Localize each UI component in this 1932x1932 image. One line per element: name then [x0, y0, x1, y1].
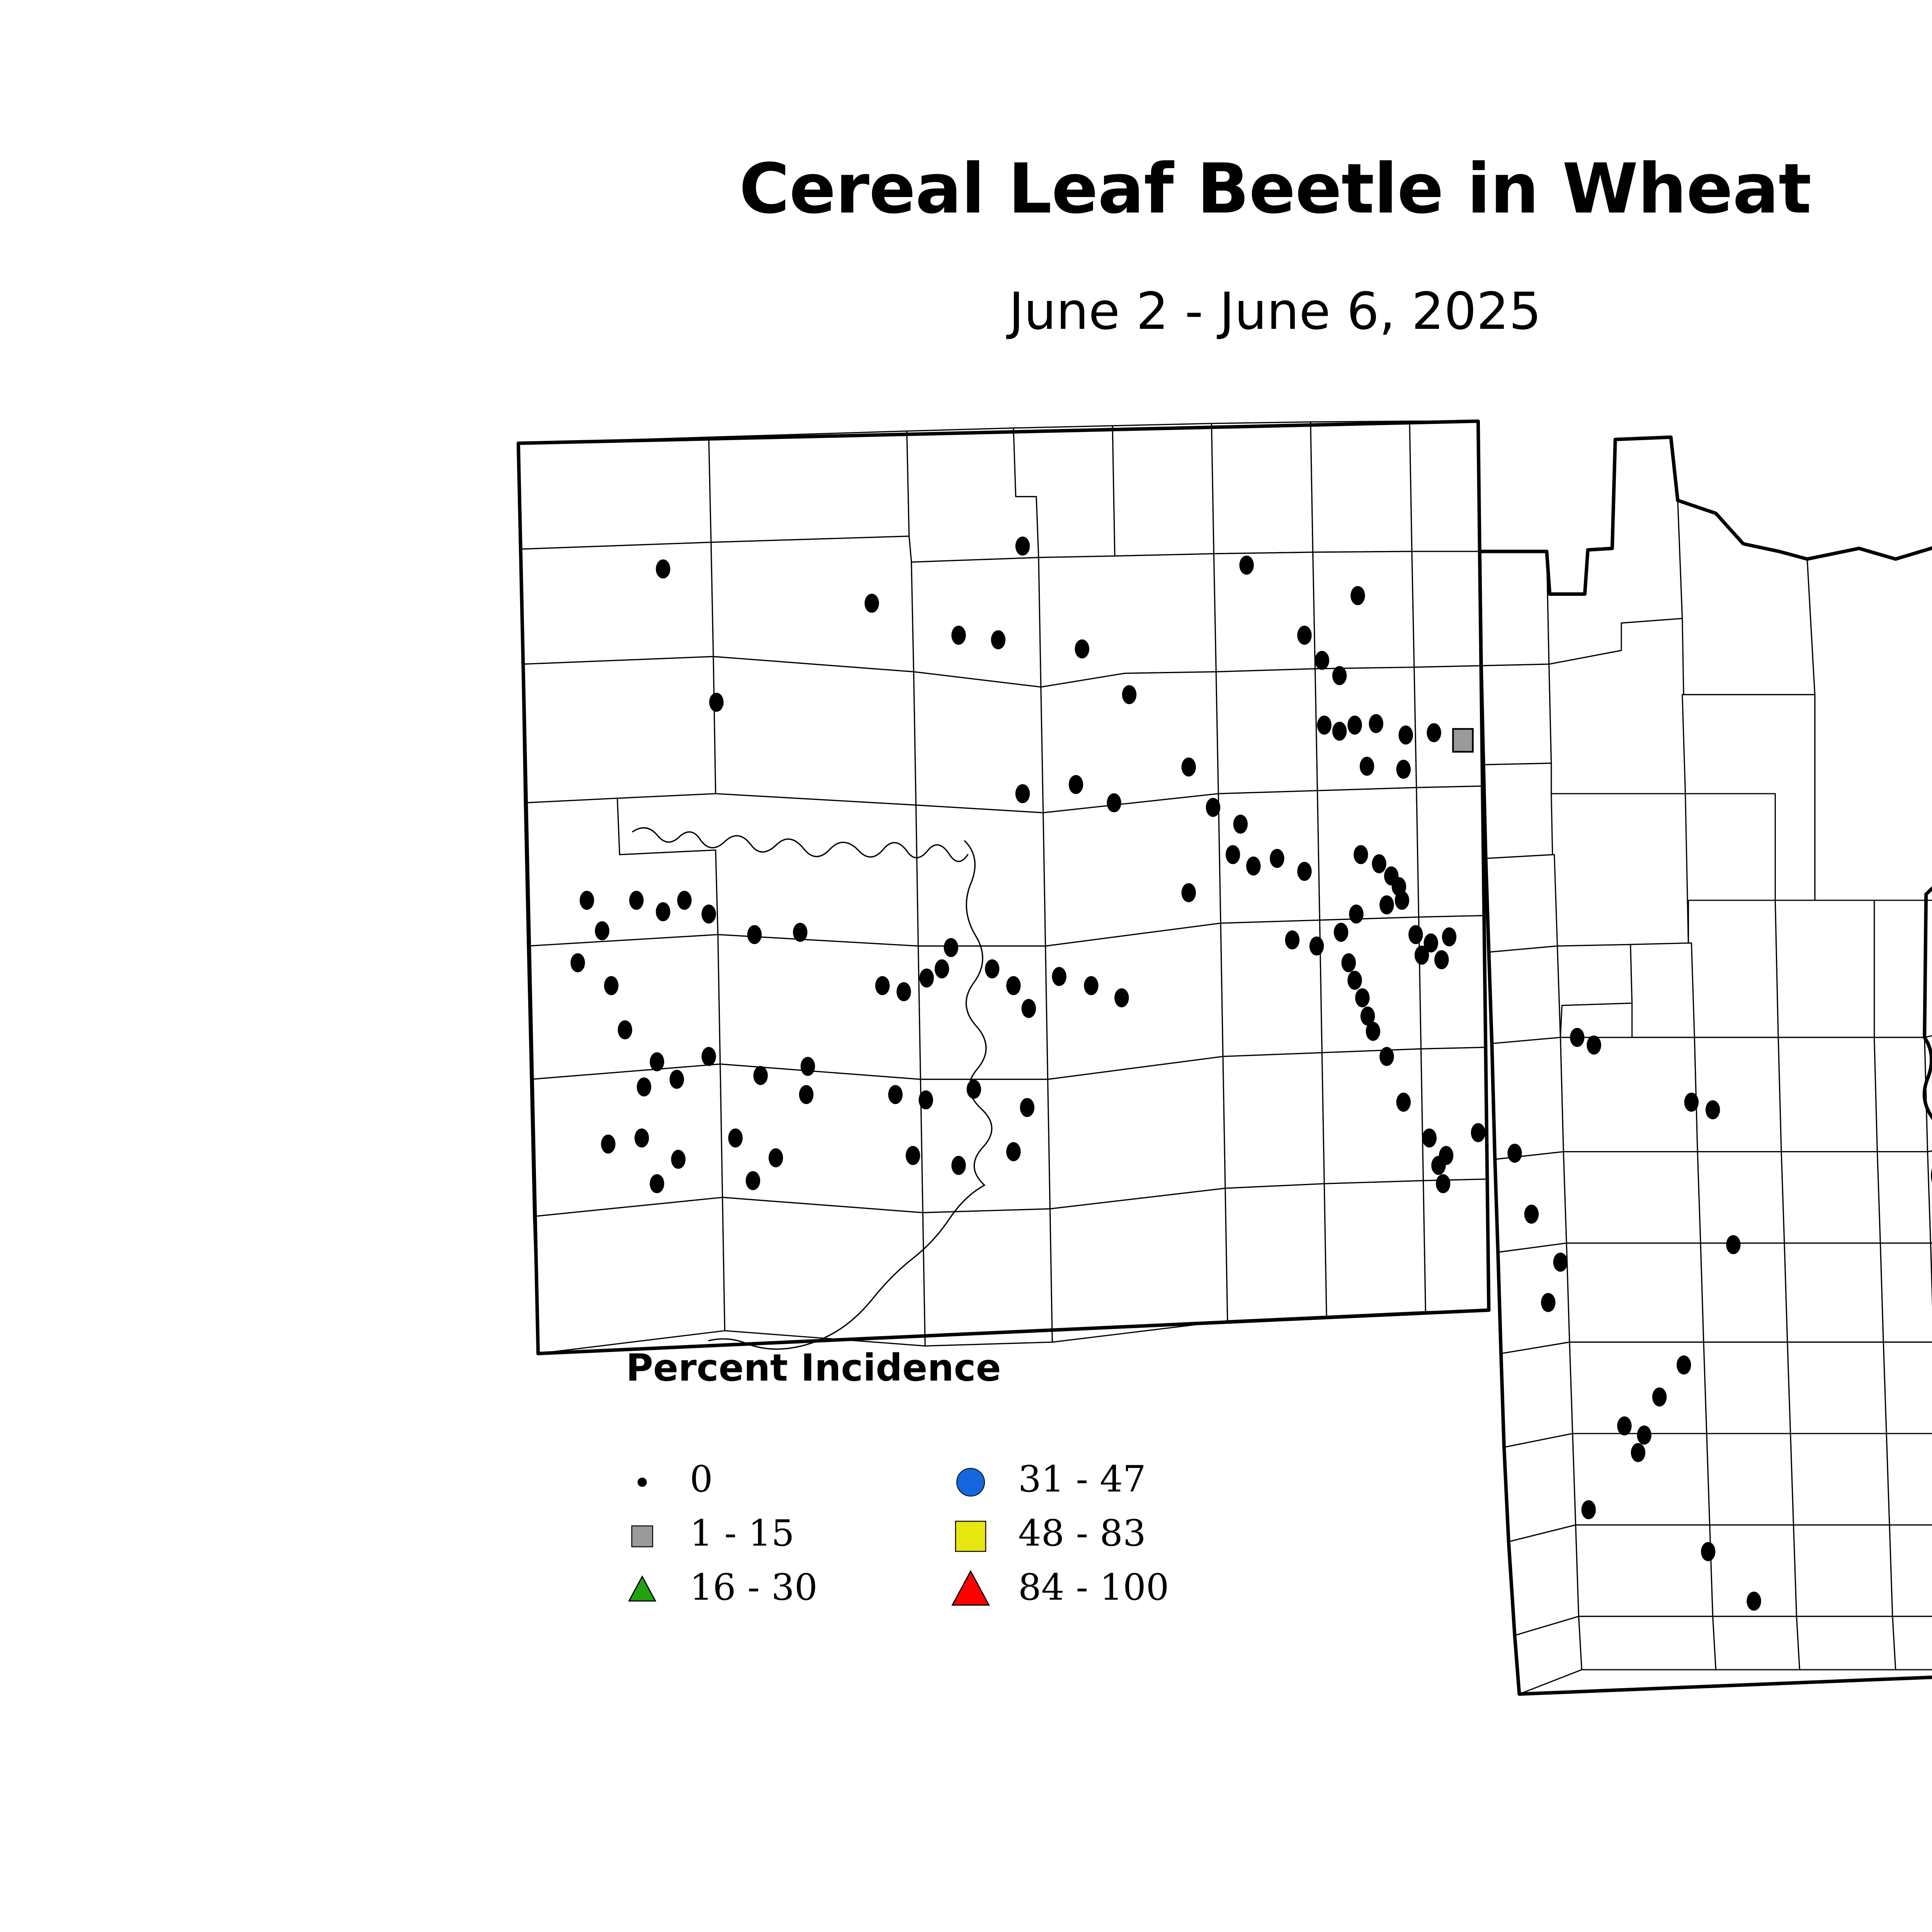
map-data-point[interactable] — [1122, 685, 1136, 704]
map-data-point[interactable] — [1075, 639, 1089, 658]
map-data-point[interactable] — [634, 1128, 649, 1147]
map-data-point[interactable] — [1015, 784, 1030, 803]
gray-square-marker — [614, 1511, 672, 1561]
map-data-point[interactable] — [1052, 967, 1066, 986]
map-data-point[interactable] — [875, 976, 889, 995]
map-data-point[interactable] — [906, 1146, 920, 1165]
map-data-point[interactable] — [1114, 988, 1129, 1007]
map-data-point[interactable] — [1747, 1592, 1761, 1611]
red-triangle-marker — [943, 1565, 1001, 1615]
map-data-point[interactable] — [753, 1066, 768, 1085]
map-data-point[interactable] — [629, 891, 643, 910]
map-data-point[interactable] — [888, 1085, 903, 1104]
map-data-point[interactable] — [967, 1080, 981, 1099]
map-data-point[interactable] — [1350, 586, 1365, 605]
map-data-point[interactable] — [671, 1150, 685, 1169]
map-data-point[interactable] — [747, 925, 762, 944]
map-data-point[interactable] — [1347, 971, 1362, 990]
legend-label: 16 - 30 — [690, 1569, 818, 1607]
map-data-point[interactable] — [580, 891, 594, 910]
map-data-point[interactable] — [1631, 1443, 1645, 1462]
map-data-point[interactable] — [1617, 1417, 1631, 1435]
map-data-point[interactable] — [595, 921, 609, 940]
legend: Percent Incidence 01 - 1516 - 30 31 - 47… — [614, 1341, 1155, 1646]
map-data-point[interactable] — [604, 976, 618, 995]
legend-label: 48 - 83 — [1018, 1515, 1146, 1553]
legend-label: 84 - 100 — [1018, 1569, 1169, 1607]
map-data-point[interactable] — [1379, 1047, 1394, 1066]
map-data-point[interactable] — [951, 1156, 966, 1175]
map-data-point[interactable] — [1434, 950, 1449, 969]
map-data-point[interactable] — [1439, 1146, 1453, 1165]
map-data-point[interactable] — [702, 905, 716, 923]
map-data-point[interactable] — [1285, 930, 1299, 949]
map-data-point[interactable] — [650, 1174, 664, 1193]
blue-circle-marker — [943, 1457, 1001, 1507]
map-data-point[interactable] — [1310, 937, 1324, 956]
map-data-point[interactable] — [1582, 1500, 1596, 1519]
map-data-point[interactable] — [1436, 1174, 1450, 1193]
map-data-point[interactable] — [1239, 556, 1253, 575]
map-data-point[interactable] — [1396, 1093, 1411, 1112]
map-data-point[interactable] — [919, 968, 934, 987]
map-data-point[interactable] — [1317, 716, 1331, 735]
map-data-point[interactable] — [896, 982, 911, 1001]
map-data-point[interactable] — [1022, 999, 1036, 1018]
map-data-point[interactable] — [637, 1077, 651, 1096]
map-data-point[interactable] — [1006, 1142, 1020, 1161]
map-data-point[interactable] — [1354, 845, 1368, 864]
map-data-point[interactable] — [985, 959, 999, 978]
small-circle-marker — [614, 1457, 672, 1507]
map-data-point[interactable] — [1415, 946, 1429, 964]
map-data-point[interactable] — [1706, 1100, 1720, 1119]
map-data-point[interactable] — [677, 891, 691, 910]
map-data-point[interactable] — [1347, 716, 1362, 735]
map-data-point[interactable] — [570, 953, 585, 972]
legend-label: 31 - 47 — [1018, 1461, 1146, 1499]
minnesota-counties — [1480, 437, 1932, 1694]
map-data-point[interactable] — [1182, 757, 1196, 776]
map-data-point[interactable] — [1570, 1028, 1584, 1047]
map-data-point[interactable] — [991, 630, 1005, 649]
map-data-point[interactable] — [951, 626, 966, 645]
map-data-point[interactable] — [1507, 1144, 1522, 1163]
map-data-point[interactable] — [1206, 798, 1220, 817]
map-data-point[interactable] — [1006, 976, 1020, 995]
map-data-point[interactable] — [1684, 1093, 1699, 1112]
map-data-point[interactable] — [1524, 1205, 1539, 1224]
page-title: Cereal Leaf Beetle in Wheat — [0, 155, 1932, 223]
map-data-point[interactable] — [1427, 723, 1441, 742]
map-data-point[interactable] — [1069, 775, 1083, 794]
legend-title: Percent Incidence — [626, 1349, 1001, 1386]
map-data-point[interactable] — [601, 1134, 615, 1153]
map-data-point[interactable] — [1408, 925, 1423, 944]
map-data-point[interactable] — [1315, 651, 1329, 670]
map-data-point[interactable] — [1334, 923, 1348, 942]
map-data-point[interactable] — [1471, 1123, 1485, 1142]
map-data-point[interactable] — [1553, 1253, 1568, 1272]
map-data-point[interactable] — [1084, 976, 1098, 995]
map-figure: Cereal Leaf Beetle in Wheat June 2 - Jun… — [0, 0, 1932, 1932]
map-data-point[interactable] — [918, 1090, 933, 1109]
map-data-point[interactable] — [1587, 1036, 1601, 1054]
map-data-point[interactable] — [1226, 845, 1240, 864]
map-data-point[interactable] — [1332, 722, 1347, 741]
green-triangle-marker — [614, 1565, 672, 1615]
map-data-point[interactable] — [1398, 726, 1413, 745]
map-data-point[interactable] — [1297, 626, 1311, 645]
map-data-point[interactable] — [769, 1148, 783, 1167]
map-data-point[interactable] — [1020, 1098, 1034, 1117]
map-data-point[interactable] — [1297, 862, 1311, 881]
map-data-point[interactable] — [1637, 1425, 1651, 1444]
map-data-point[interactable] — [944, 938, 958, 957]
map-data-point[interactable] — [1726, 1235, 1740, 1254]
map-data-point[interactable] — [1701, 1542, 1715, 1561]
map-data-point[interactable] — [1015, 537, 1030, 556]
map-data-point[interactable] — [1541, 1293, 1555, 1312]
map-data-point[interactable] — [1270, 849, 1284, 868]
map-data-point[interactable] — [1395, 891, 1409, 910]
map-data-point[interactable] — [864, 594, 879, 613]
map-data-point[interactable] — [709, 693, 723, 712]
map-data-point[interactable] — [935, 959, 949, 978]
map-data-point[interactable] — [1342, 953, 1356, 972]
map-data-point[interactable] — [1366, 1022, 1380, 1041]
map-data-point[interactable] — [1396, 760, 1411, 779]
map-data-point[interactable] — [1372, 854, 1386, 873]
legend-label: 0 — [690, 1461, 713, 1499]
map-data-point[interactable] — [1677, 1355, 1691, 1374]
map-data-point[interactable] — [1349, 905, 1363, 923]
map-data-point[interactable] — [656, 902, 670, 921]
page-subtitle: June 2 - June 6, 2025 — [0, 286, 1932, 337]
map-data-point[interactable] — [1332, 666, 1347, 685]
map-data-point[interactable] — [1107, 793, 1121, 812]
map-data-point[interactable] — [746, 1171, 760, 1190]
map-data-point[interactable] — [650, 1052, 664, 1071]
map-data-point[interactable] — [728, 1128, 743, 1147]
map-data-point[interactable] — [1422, 1128, 1437, 1147]
map-data-point[interactable] — [1369, 714, 1383, 733]
map-data-point[interactable] — [670, 1070, 684, 1089]
map-data-point[interactable] — [1652, 1388, 1667, 1406]
map-data-point[interactable] — [1233, 815, 1248, 833]
map-data-point[interactable] — [793, 923, 807, 942]
map-data-point[interactable] — [1379, 895, 1394, 914]
map-data-point[interactable] — [656, 560, 670, 578]
map-data-point[interactable] — [1360, 757, 1374, 776]
map-data-point[interactable] — [1246, 857, 1260, 876]
yellow-square-marker — [943, 1511, 1001, 1561]
map-data-point[interactable] — [618, 1020, 632, 1039]
map-data-point[interactable] — [801, 1057, 815, 1076]
map-data-point[interactable] — [702, 1047, 716, 1066]
map-data-point[interactable] — [799, 1085, 813, 1104]
legend-label: 1 - 15 — [690, 1515, 794, 1553]
map-data-point[interactable] — [1442, 927, 1456, 946]
map-data-point[interactable] — [1182, 883, 1196, 902]
map-data-point[interactable] — [1453, 729, 1473, 752]
map-data-point[interactable] — [1355, 988, 1369, 1007]
